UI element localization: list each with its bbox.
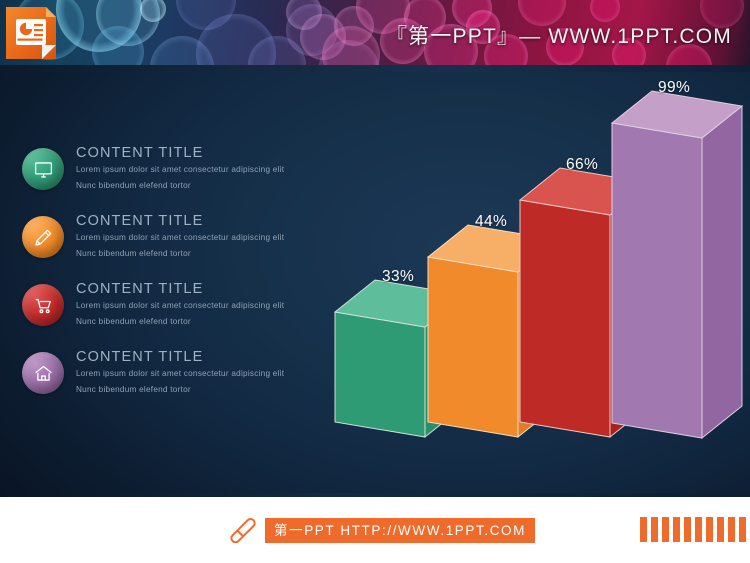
bar-chart-3d: 33% 44% 66% [330, 72, 750, 493]
bokeh-circle [334, 6, 374, 46]
content-item-title: CONTENT TITLE [76, 144, 332, 162]
slide: 『第一PPT』— WWW.1PPT.COM CONTENT TITLE Lore… [0, 0, 750, 563]
footer-top-band [0, 493, 750, 497]
home-icon [33, 363, 54, 384]
slide-body: CONTENT TITLE Lorem ipsum dolor sit amet… [0, 72, 750, 493]
content-item-desc-1: Lorem ipsum dolor sit amet consectetur a… [76, 231, 332, 244]
content-item-desc-1: Lorem ipsum dolor sit amet consectetur a… [76, 299, 332, 312]
content-item-badge[interactable] [22, 352, 64, 394]
content-item-desc-2: Nunc bibendum elefend tortor [76, 315, 332, 328]
bokeh-circle [140, 0, 166, 22]
site-title: 『第一PPT』— WWW.1PPT.COM [386, 20, 732, 50]
bokeh-circle [590, 0, 620, 22]
monitor-icon [33, 159, 54, 180]
content-item[interactable]: CONTENT TITLE Lorem ipsum dolor sit amet… [22, 282, 332, 340]
powerpoint-document-icon [4, 5, 60, 63]
footer-url-label: 第一PPT HTTP://WWW.1PPT.COM [265, 518, 535, 543]
shopping-cart-icon [33, 295, 54, 316]
content-list: CONTENT TITLE Lorem ipsum dolor sit amet… [22, 146, 332, 418]
bokeh-circle [286, 4, 338, 56]
bar-label-2: 44% [475, 213, 507, 231]
content-item-badge[interactable] [22, 216, 64, 258]
content-item-text: CONTENT TITLE Lorem ipsum dolor sit amet… [76, 280, 332, 328]
content-item[interactable]: CONTENT TITLE Lorem ipsum dolor sit amet… [22, 146, 332, 204]
content-item-title: CONTENT TITLE [76, 280, 332, 298]
content-item[interactable]: CONTENT TITLE Lorem ipsum dolor sit amet… [22, 214, 332, 272]
header-bottom-strip [0, 65, 750, 72]
pencil-icon [33, 227, 54, 248]
footer: 第一PPT HTTP://WWW.1PPT.COM [0, 493, 750, 563]
content-item-badge[interactable] [22, 284, 64, 326]
bar-label-1: 33% [382, 268, 414, 286]
content-item-text: CONTENT TITLE Lorem ipsum dolor sit amet… [76, 212, 332, 260]
footer-brand[interactable]: 第一PPT HTTP://WWW.1PPT.COM [228, 517, 535, 543]
bar-label-3: 66% [566, 156, 598, 174]
bokeh-circle [56, 0, 142, 52]
content-item-desc-1: Lorem ipsum dolor sit amet consectetur a… [76, 163, 332, 176]
bokeh-circle [176, 0, 236, 30]
content-item-title: CONTENT TITLE [76, 348, 332, 366]
bokeh-circle [300, 14, 346, 60]
content-item-desc-1: Lorem ipsum dolor sit amet consectetur a… [76, 367, 332, 380]
content-item-desc-2: Nunc bibendum elefend tortor [76, 179, 332, 192]
content-item-text: CONTENT TITLE Lorem ipsum dolor sit amet… [76, 348, 332, 396]
pen-icon [228, 517, 258, 543]
content-item-badge[interactable] [22, 148, 64, 190]
bokeh-circle [96, 0, 160, 46]
content-item-desc-2: Nunc bibendum elefend tortor [76, 247, 332, 260]
content-item-text: CONTENT TITLE Lorem ipsum dolor sit amet… [76, 144, 332, 192]
footer-stripes [640, 517, 750, 542]
content-item-title: CONTENT TITLE [76, 212, 332, 230]
bar-column-4[interactable] [612, 88, 750, 438]
bokeh-circle [196, 14, 276, 72]
content-item[interactable]: CONTENT TITLE Lorem ipsum dolor sit amet… [22, 350, 332, 408]
bokeh-circle [286, 0, 322, 30]
bar-label-4: 99% [658, 79, 690, 97]
header-banner: 『第一PPT』— WWW.1PPT.COM [0, 0, 750, 72]
content-item-desc-2: Nunc bibendum elefend tortor [76, 383, 332, 396]
